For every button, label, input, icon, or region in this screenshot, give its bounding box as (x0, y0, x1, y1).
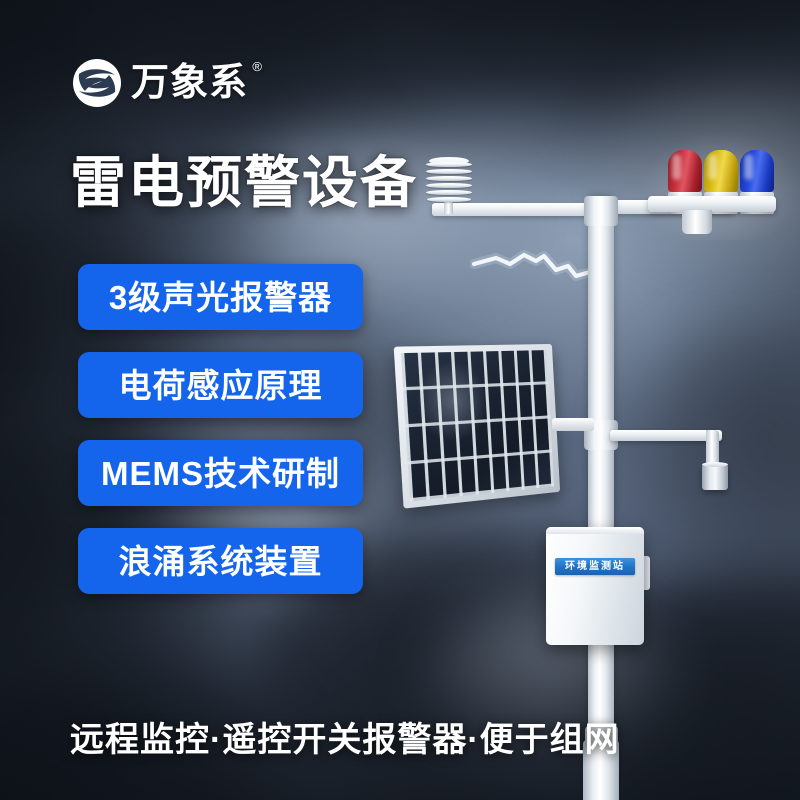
globe-swoosh-logo-icon (72, 58, 122, 108)
feature-list: 3级声光报警器 电荷感应原理 MEMS技术研制 浪涌系统装置 (78, 264, 363, 594)
brand-logo: 万象系 ® (72, 58, 248, 108)
feature-pill-3[interactable]: MEMS技术研制 (78, 440, 363, 506)
feature-pill-2[interactable]: 电荷感应原理 (78, 352, 363, 418)
feature-pill-4[interactable]: 浪涌系统装置 (78, 528, 363, 594)
brand-name: 万象系 ® (131, 64, 248, 102)
feature-pill-4-label: 浪涌系统装置 (119, 545, 323, 578)
feature-pill-3-label: MEMS技术研制 (101, 457, 340, 490)
feature-pill-1-label: 3级声光报警器 (109, 281, 332, 314)
brand-name-text: 万象系 (131, 62, 248, 104)
feature-pill-2-label: 电荷感应原理 (119, 369, 323, 402)
registered-trademark-icon: ® (252, 60, 263, 73)
bottom-tagline: 远程监控·遥控开关报警器·便于组网 (70, 712, 620, 761)
feature-pill-1[interactable]: 3级声光报警器 (78, 264, 363, 330)
product-poster: 环境监测站 万象系 ® 雷电预警设备 3级声光报警器 电荷感应原理 MEMS技术… (0, 0, 800, 800)
page-title: 雷电预警设备 (70, 152, 418, 214)
